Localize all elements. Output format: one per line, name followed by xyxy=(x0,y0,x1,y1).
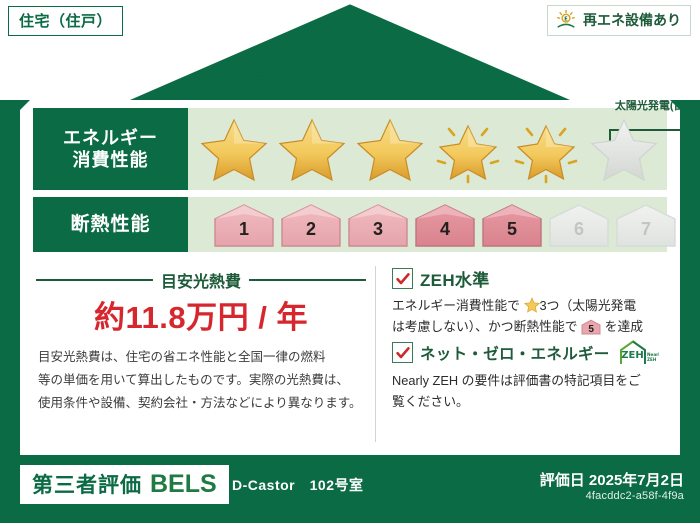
housing-type-label: 住宅（住戸） xyxy=(19,13,112,30)
grade-number: 1 xyxy=(212,219,276,240)
renewable-energy-badge: E 再エネ設備あり xyxy=(547,5,691,36)
note-line-1: 目安光熱費は、住宅の省エネ性能と全国一律の燃料 xyxy=(38,346,363,369)
grade-number: 3 xyxy=(346,219,410,240)
lower-info-area: 目安光熱費 約11.8万円 / 年 目安光熱費は、住宅の省エネ性能と全国一律の燃… xyxy=(20,260,680,455)
zeh-desc-part4: を達成 xyxy=(601,319,643,334)
insulation-grade-7: 7 xyxy=(614,202,678,248)
heading-rule-right xyxy=(249,279,366,281)
utility-cost-note: 目安光熱費は、住宅の省エネ性能と全国一律の燃料 等の単価を用いて算出したものです… xyxy=(38,346,363,415)
label-body-card: エネルギー 消費性能 太陽光発電(自家消費)分 xyxy=(20,100,680,455)
property-name: D-Castor 102号室 xyxy=(232,475,363,495)
star-4-solar xyxy=(430,113,506,185)
zeh-desc-part3: は考慮しない）、かつ断熱性能で xyxy=(392,319,581,334)
svg-text:ZEH: ZEH xyxy=(621,350,643,361)
energy-label-line1: エネルギー xyxy=(63,127,158,150)
energy-performance-row: エネルギー 消費性能 太陽光発電(自家消費)分 xyxy=(33,108,667,190)
star-icon xyxy=(524,297,540,313)
heading-rule-left xyxy=(36,279,153,281)
net-zero-description: Nearly ZEH の要件は評価書の特記項目をご 覧ください。 xyxy=(392,371,674,412)
zeh-logo-icon: ZEH Nearly ZEH xyxy=(619,339,659,366)
star-rating xyxy=(196,113,662,185)
net-zero-header: ネット・ゼロ・エネルギー ZEH Nearly ZEH xyxy=(392,339,674,366)
bels-energy-performance-label: 住宅（住戸） E 再エネ設備あり xyxy=(0,0,700,523)
evaluation-id: 4facddc2-a58f-4f9a xyxy=(586,490,684,502)
title-block: 建築物省エネ法に基づく 省エネ性能ラベル xyxy=(0,40,700,89)
evaluation-date: 評価日 2025年7月2日 xyxy=(540,469,684,490)
star-6-empty xyxy=(586,113,662,185)
sun-icon: E xyxy=(555,9,577,31)
utility-cost-heading: 目安光熱費 xyxy=(36,270,366,290)
grade-number: 2 xyxy=(279,219,343,240)
net-zero-desc-line-1: Nearly ZEH の要件は評価書の特記項目をご xyxy=(392,371,674,392)
grade-number: 4 xyxy=(413,219,477,240)
check-icon xyxy=(392,268,413,289)
vertical-divider xyxy=(375,266,376,442)
insulation-performance-label: 断熱性能 xyxy=(33,197,188,252)
insulation-grade-4: 4 xyxy=(413,202,477,248)
svg-text:ZEH: ZEH xyxy=(647,357,657,362)
title-main: 省エネ性能ラベル xyxy=(0,57,700,88)
insulation-grade-2: 2 xyxy=(279,202,343,248)
insulation-grades-area: 1 2 3 xyxy=(188,197,667,252)
energy-performance-label: エネルギー 消費性能 xyxy=(33,108,188,190)
net-zero-energy-block: ネット・ゼロ・エネルギー ZEH Nearly ZEH Nearly ZEH の… xyxy=(392,339,674,412)
insulation-grade-scale: 1 2 3 xyxy=(212,202,678,248)
insulation-grade-6: 6 xyxy=(547,202,611,248)
zeh-standard-title: ZEH水準 xyxy=(420,266,490,291)
insulation-grade-3: 3 xyxy=(346,202,410,248)
bels-wordmark: BELS xyxy=(150,470,217,499)
insulation-grade-badge-icon: 5 xyxy=(581,319,601,335)
bels-certification-badge: 第三者評価 BELS xyxy=(20,465,229,504)
grade-number: 5 xyxy=(480,219,544,240)
grade-number: 6 xyxy=(547,219,611,240)
star-5-solar xyxy=(508,113,584,185)
insulation-performance-row: 断熱性能 xyxy=(33,197,667,252)
renewable-energy-label: 再エネ設備あり xyxy=(583,10,681,30)
star-1 xyxy=(196,113,272,185)
zeh-standard-block: ZEH水準 エネルギー消費性能で 3つ（太陽光発電は考慮しない）、かつ断熱性能で… xyxy=(392,266,674,337)
label-header: 住宅（住戸） E 再エネ設備あり xyxy=(0,0,700,100)
insulation-grade-1: 1 xyxy=(212,202,276,248)
mini-grade-number: 5 xyxy=(581,322,601,338)
insulation-label-text: 断熱性能 xyxy=(70,213,150,237)
svg-text:E: E xyxy=(564,17,568,23)
insulation-grade-5: 5 xyxy=(480,202,544,248)
utility-cost-value: 約11.8万円 / 年 xyxy=(36,292,366,337)
energy-label-line2: 消費性能 xyxy=(73,149,149,172)
zeh-desc-part1: エネルギー消費性能で xyxy=(392,298,524,313)
zeh-desc-part2: 3つ（太陽光発電 xyxy=(540,298,637,313)
third-party-evaluation-label: 第三者評価 xyxy=(32,469,142,499)
energy-stars-area: 太陽光発電(自家消費)分 xyxy=(188,108,667,190)
label-footer: 第三者評価 BELS D-Castor 102号室 評価日 2025年7月2日 … xyxy=(0,463,700,523)
net-zero-title: ネット・ゼロ・エネルギー xyxy=(420,342,610,364)
star-2 xyxy=(274,113,350,185)
check-icon xyxy=(392,342,413,363)
utility-cost-title: 目安光熱費 xyxy=(161,268,241,292)
star-3 xyxy=(352,113,428,185)
zeh-standard-description: エネルギー消費性能で 3つ（太陽光発電は考慮しない）、かつ断熱性能で 5 を達成 xyxy=(392,296,674,337)
note-line-2: 等の単価を用いて算出したものです。実際の光熱費は、 xyxy=(38,369,363,392)
grade-number: 7 xyxy=(614,219,678,240)
note-line-3: 使用条件や設備、契約会社・方法などにより異なります。 xyxy=(38,392,363,415)
title-subtitle: 建築物省エネ法に基づく xyxy=(0,40,700,55)
housing-type-badge: 住宅（住戸） xyxy=(8,6,123,36)
net-zero-desc-line-2: 覧ください。 xyxy=(392,392,674,413)
zeh-standard-header: ZEH水準 xyxy=(392,266,674,291)
